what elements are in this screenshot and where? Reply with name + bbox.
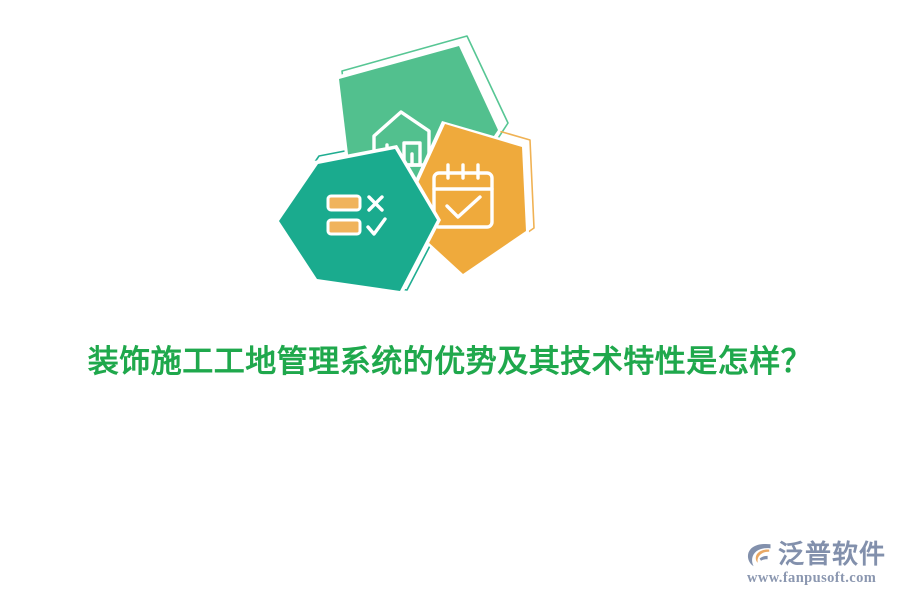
watermark-brand-row: 泛普软件 xyxy=(746,541,886,569)
watermark-url-text: www.fanpusoft.com xyxy=(747,570,876,586)
watermark-brand-text: 泛普软件 xyxy=(778,541,886,569)
checklist-bar-1 xyxy=(328,196,360,210)
page-canvas: 装饰施工工地管理系统的优势及其技术特性是怎样？ 泛普软件 www.fanpuso… xyxy=(0,0,900,600)
fanpu-logo-icon xyxy=(746,541,774,569)
hero-illustration xyxy=(262,28,562,303)
checklist-bar-2 xyxy=(328,220,360,234)
watermark-logo: 泛普软件 www.fanpusoft.com xyxy=(746,541,886,586)
page-title: 装饰施工工地管理系统的优势及其技术特性是怎样？ xyxy=(0,339,900,385)
